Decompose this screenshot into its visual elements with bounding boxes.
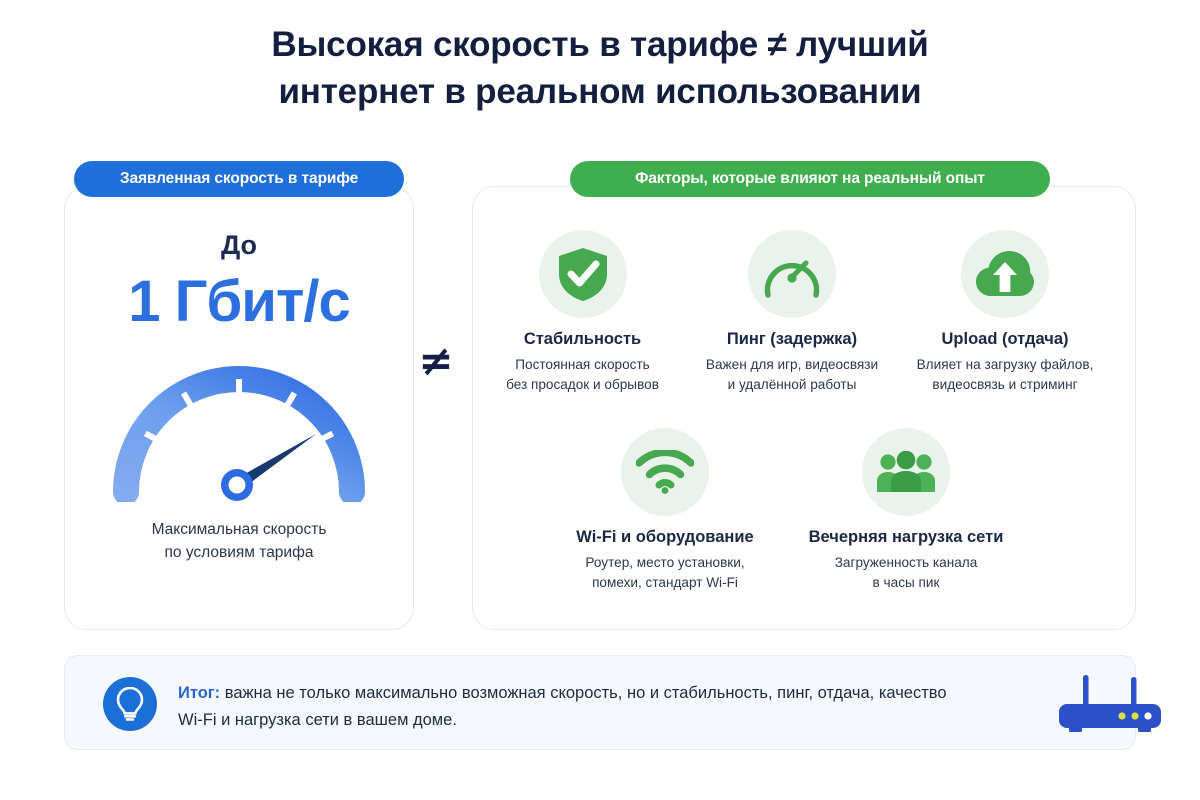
- icon-circle: [539, 230, 627, 318]
- icon-circle: [961, 230, 1049, 318]
- upto-label: До: [64, 230, 414, 261]
- factor-title: Стабильность: [490, 330, 675, 349]
- factor-desc: Важен для игр, видеосвязи и удалённой ра…: [697, 355, 887, 394]
- factor-desc-line-1: Влияет на загрузку файлов,: [905, 355, 1105, 375]
- factor-title: Upload (отдача): [905, 330, 1105, 349]
- factor-desc-line-2: без просадок и обрывов: [490, 375, 675, 395]
- gauge-hub-inner: [229, 477, 246, 494]
- page-title: Высокая скорость в тарифе ≠ лучший интер…: [0, 22, 1200, 115]
- icon-circle: [862, 428, 950, 516]
- declared-speed-badge: Заявленная скорость в тарифе: [74, 161, 404, 197]
- icon-circle: [621, 428, 709, 516]
- speedometer-icon: [763, 248, 821, 300]
- factor-item: Wi-Fi и оборудование Роутер, место устан…: [562, 428, 768, 592]
- icon-circle: [748, 230, 836, 318]
- summary-body: важна не только максимально возможная ск…: [178, 684, 947, 729]
- factor-title: Вечерняя нагрузка сети: [800, 528, 1012, 547]
- infographic-page: Высокая скорость в тарифе ≠ лучший интер…: [0, 0, 1200, 800]
- factor-desc-line-1: Важен для игр, видеосвязи: [697, 355, 887, 375]
- factor-desc-line-2: видеосвязь и стриминг: [905, 375, 1105, 395]
- factor-title: Пинг (задержка): [697, 330, 887, 349]
- lightbulb-icon-circle: [103, 677, 157, 731]
- wifi-router-icon: [1050, 674, 1170, 734]
- shield-check-icon: [557, 246, 609, 302]
- summary-label: Итог:: [178, 684, 220, 702]
- wifi-icon: [636, 450, 694, 494]
- lightbulb-icon: [116, 687, 144, 721]
- factor-item: Вечерняя нагрузка сети Загруженность кан…: [800, 428, 1012, 592]
- cloud-upload-icon: [976, 250, 1034, 298]
- factor-item: Стабильность Постоянная скорость без про…: [490, 230, 675, 394]
- router-icon-wrap: [1050, 674, 1170, 734]
- factor-desc-line-1: Загруженность канала: [800, 553, 1012, 573]
- factor-desc-line-1: Роутер, место установки,: [562, 553, 768, 573]
- summary-panel: Итог: важна не только максимально возмож…: [64, 655, 1136, 750]
- speed-gauge: [104, 352, 374, 502]
- factor-desc-line-2: помехи, стандарт Wi-Fi: [562, 573, 768, 593]
- declared-speed-caption-line-1: Максимальная скорость: [64, 518, 414, 541]
- factor-desc-line-1: Постоянная скорость: [490, 355, 675, 375]
- page-title-line-1: Высокая скорость в тарифе ≠ лучший: [0, 22, 1200, 69]
- page-title-line-2: интернет в реальном использовании: [0, 69, 1200, 116]
- factor-desc: Постоянная скорость без просадок и обрыв…: [490, 355, 675, 394]
- declared-speed-caption: Максимальная скорость по условиям тарифа: [64, 518, 414, 565]
- speed-value: 1 Гбит/с: [64, 268, 414, 335]
- factor-desc: Роутер, место установки, помехи, стандар…: [562, 553, 768, 592]
- factor-item: Пинг (задержка) Важен для игр, видеосвяз…: [697, 230, 887, 394]
- real-factors-badge: Факторы, которые влияют на реальный опыт: [570, 161, 1050, 197]
- not-equal-icon: ≠: [406, 336, 466, 385]
- declared-speed-caption-line-2: по условиям тарифа: [64, 541, 414, 564]
- people-group-icon: [877, 451, 935, 493]
- speed-gauge-svg: [104, 352, 374, 502]
- factor-item: Upload (отдача) Влияет на загрузку файло…: [905, 230, 1105, 394]
- factor-title: Wi-Fi и оборудование: [562, 528, 768, 547]
- factor-desc: Загруженность канала в часы пик: [800, 553, 1012, 592]
- factor-desc-line-2: и удалённой работы: [697, 375, 887, 395]
- factor-desc: Влияет на загрузку файлов, видеосвязь и …: [905, 355, 1105, 394]
- factor-desc-line-2: в часы пик: [800, 573, 1012, 593]
- summary-text: Итог: важна не только максимально возмож…: [178, 680, 948, 733]
